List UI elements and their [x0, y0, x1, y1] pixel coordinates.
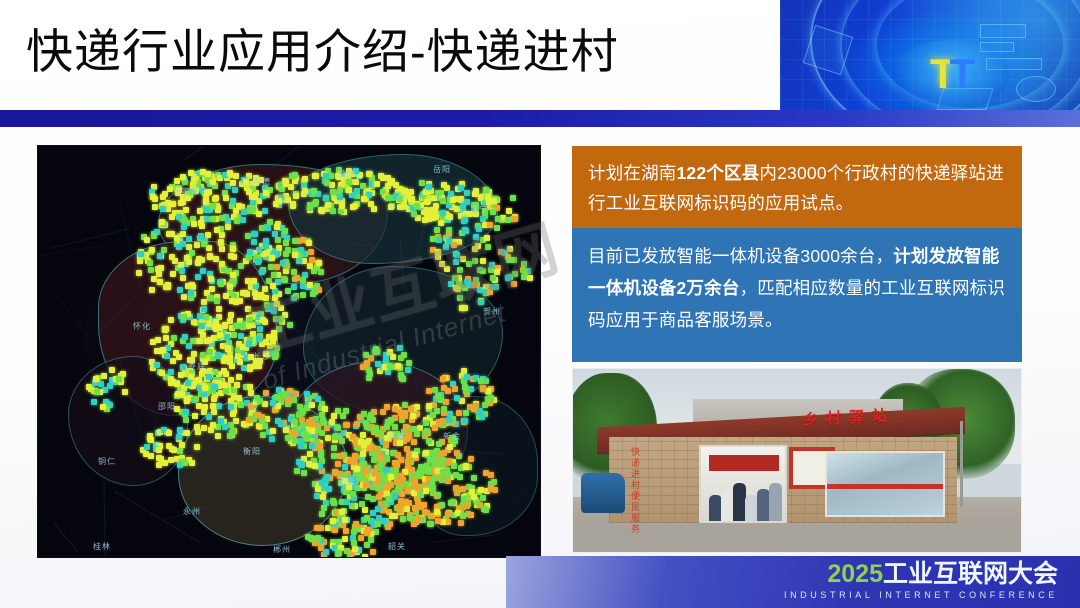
map-station-dot	[480, 258, 486, 264]
map-station-dot	[248, 390, 254, 396]
map-station-dot	[283, 427, 289, 433]
map-station-dot	[461, 496, 467, 502]
map-station-dot	[197, 338, 203, 344]
map-station-dot	[371, 457, 377, 463]
map-station-dot	[271, 330, 277, 336]
map-station-dot	[380, 175, 386, 181]
map-station-dot	[237, 359, 243, 365]
map-station-dot	[477, 408, 483, 414]
map-station-dot	[225, 345, 231, 351]
map-station-dot	[168, 369, 174, 375]
map-station-dot	[186, 244, 192, 250]
map-station-dot	[306, 240, 312, 246]
map-station-dot	[164, 353, 170, 359]
map-station-dot	[315, 486, 321, 492]
map-station-dot	[246, 189, 252, 195]
map-station-dot	[319, 511, 325, 517]
map-city-label: 郴州	[273, 544, 291, 555]
map-station-dot	[204, 216, 210, 222]
map-station-dot	[332, 434, 338, 440]
map-station-dot	[283, 268, 289, 274]
map-city-label: 韶关	[388, 541, 406, 552]
map-station-dot	[440, 418, 446, 424]
map-station-dot	[190, 383, 196, 389]
map-station-dot	[338, 208, 344, 214]
map-station-dot	[385, 195, 391, 201]
map-station-dot	[363, 482, 369, 488]
map-station-dot	[463, 410, 469, 416]
map-station-dot	[439, 502, 445, 508]
map-station-dot	[461, 218, 467, 224]
map-station-dot	[397, 196, 403, 202]
map-station-dot	[445, 511, 451, 517]
map-station-dot	[482, 402, 488, 408]
map-station-dot	[292, 252, 298, 258]
map-station-dot	[223, 195, 229, 201]
map-station-dot	[246, 341, 252, 347]
map-station-dot	[384, 404, 390, 410]
map-station-dot	[453, 259, 459, 265]
map-station-dot	[255, 259, 261, 265]
map-station-dot	[195, 429, 201, 435]
map-station-dot	[401, 352, 407, 358]
map-station-dot	[234, 382, 240, 388]
map-station-dot	[488, 472, 494, 478]
map-station-dot	[312, 289, 318, 295]
map-station-dot	[342, 517, 348, 523]
map-station-dot	[352, 546, 358, 552]
map-station-dot	[168, 376, 174, 382]
map-station-dot	[233, 418, 239, 424]
map-station-dot	[322, 406, 328, 412]
map-station-dot	[457, 295, 463, 301]
map-city-label: 岳阳	[433, 164, 451, 175]
map-station-dot	[441, 182, 447, 188]
map-station-dot	[270, 428, 276, 434]
map-station-dot	[262, 208, 268, 214]
map-station-dot	[403, 424, 409, 430]
map-station-dot	[351, 459, 357, 465]
map-station-dot	[201, 306, 207, 312]
map-station-dot	[315, 427, 321, 433]
photo-sign-char: 驿	[849, 405, 864, 427]
map-station-dot	[156, 271, 162, 277]
map-station-dot	[197, 208, 203, 214]
map-station-dot	[254, 395, 260, 401]
map-station-dot	[378, 430, 384, 436]
map-station-dot	[378, 455, 384, 461]
map-station-dot	[383, 442, 389, 448]
map-station-dot	[182, 460, 188, 466]
map-station-dot	[307, 202, 313, 208]
map-station-dot	[271, 272, 277, 278]
map-station-dot	[151, 233, 157, 239]
map-station-dot	[273, 352, 279, 358]
map-station-dot	[429, 480, 435, 486]
map-station-dot	[177, 448, 183, 454]
map-city-label: 怀化	[133, 321, 151, 332]
map-station-dot	[373, 529, 379, 535]
map-station-dot	[101, 373, 107, 379]
map-station-dot	[336, 550, 342, 556]
map-station-dot	[324, 474, 330, 480]
map-station-dot	[203, 199, 209, 205]
map-station-dot	[389, 513, 395, 519]
map-station-dot	[287, 388, 293, 394]
map-station-dot	[342, 536, 348, 542]
map-station-dot	[463, 464, 469, 470]
map-station-dot	[227, 433, 233, 439]
map-station-dot	[472, 191, 478, 197]
map-station-dot	[158, 265, 164, 271]
map-station-dot	[199, 323, 205, 329]
map-station-dot	[228, 253, 234, 259]
map-station-dot	[451, 242, 457, 248]
conference-name-cn: 工业互联网大会	[883, 560, 1058, 588]
map-station-dot	[221, 382, 227, 388]
map-station-dot	[300, 283, 306, 289]
map-station-dot	[364, 515, 370, 521]
map-station-dot	[415, 485, 421, 491]
map-station-dot	[181, 314, 187, 320]
title-divider-rule	[0, 110, 1080, 127]
map-station-dot	[468, 456, 474, 462]
map-station-dot	[487, 222, 493, 228]
map-station-dot	[323, 173, 329, 179]
photo-person	[769, 483, 782, 521]
map-station-dot	[257, 326, 263, 332]
map-station-dot	[454, 395, 460, 401]
map-station-dot	[241, 365, 247, 371]
map-station-dot	[424, 428, 430, 434]
map-station-dot	[189, 460, 195, 466]
map-station-dot	[156, 455, 162, 461]
map-station-dot	[231, 394, 237, 400]
map-station-dot	[374, 181, 380, 187]
map-station-dot	[319, 480, 325, 486]
map-station-dot	[511, 281, 517, 287]
map-station-dot	[375, 506, 381, 512]
map-station-dot	[372, 451, 378, 457]
map-station-dot	[296, 258, 302, 264]
map-station-dot	[339, 203, 345, 209]
map-station-dot	[402, 188, 408, 194]
map-station-dot	[223, 371, 229, 377]
map-station-dot	[178, 200, 184, 206]
map-station-dot	[282, 277, 288, 283]
map-city-label: 咸宁	[470, 204, 488, 215]
map-station-dot	[247, 249, 253, 255]
map-station-dot	[211, 335, 217, 341]
map-station-dot	[159, 219, 165, 225]
map-station-dot	[441, 385, 447, 391]
map-station-dot	[170, 201, 176, 207]
map-station-dot	[200, 352, 206, 358]
rural-courier-station-photo: 快递进村便民服务 乡村驿站	[572, 368, 1022, 553]
photo-wall-vertical-text: 快递进村便民服务	[631, 447, 647, 535]
conference-logo: 2025工业互联网大会 INDUSTRIAL INTERNET CONFEREN…	[784, 560, 1058, 600]
map-station-dot	[351, 540, 357, 546]
map-station-dot	[364, 360, 370, 366]
map-station-dot	[392, 424, 398, 430]
map-station-dot	[144, 444, 150, 450]
map-station-dot	[180, 241, 186, 247]
map-station-dot	[481, 506, 487, 512]
map-station-dot	[259, 269, 265, 275]
map-station-dot	[234, 218, 240, 224]
map-station-dot	[436, 237, 442, 243]
map-station-dot	[330, 208, 336, 214]
map-station-dot	[183, 417, 189, 423]
map-station-dot	[423, 420, 429, 426]
map-station-dot	[307, 263, 313, 269]
map-station-dot	[380, 507, 386, 513]
map-station-dot	[440, 376, 446, 382]
map-station-dot	[408, 406, 414, 412]
map-station-dot	[195, 274, 201, 280]
map-station-dot	[240, 217, 246, 223]
map-station-dot	[489, 262, 495, 268]
map-station-dot	[309, 428, 315, 434]
map-station-dot	[370, 496, 376, 502]
map-station-dot	[276, 198, 282, 204]
map-station-dot	[186, 236, 192, 242]
callout-orange-text-pre: 计划在湖南	[588, 163, 677, 183]
map-station-dot	[205, 171, 211, 177]
map-station-dot	[263, 339, 269, 345]
map-station-dot	[412, 452, 418, 458]
map-station-dot	[217, 332, 223, 338]
map-station-dot	[184, 430, 190, 436]
map-station-dot	[331, 413, 337, 419]
map-station-dot	[430, 485, 436, 491]
map-station-dot	[412, 505, 418, 511]
map-station-dot	[258, 292, 264, 298]
map-station-dot	[300, 292, 306, 298]
map-station-dot	[495, 216, 501, 222]
map-station-dot	[219, 215, 225, 221]
map-station-dot	[423, 450, 429, 456]
map-station-dot	[460, 486, 466, 492]
map-station-dot	[385, 183, 391, 189]
map-station-dot	[165, 345, 171, 351]
map-station-dot	[430, 236, 436, 242]
map-station-dot	[330, 498, 336, 504]
map-station-dot	[219, 261, 225, 267]
conference-year: 2025	[827, 560, 883, 588]
map-station-dot	[331, 445, 337, 451]
map-station-dot	[478, 299, 484, 305]
map-station-dot	[398, 498, 404, 504]
map-station-dot	[450, 499, 456, 505]
map-city-label: 铜仁	[98, 456, 116, 467]
photo-sign-char: 乡	[803, 408, 818, 430]
map-station-dot	[484, 235, 490, 241]
map-station-dot	[445, 478, 451, 484]
map-station-dot	[232, 187, 238, 193]
callout-orange-text-bold: 122个区县	[677, 163, 760, 183]
map-station-dot	[527, 275, 533, 281]
map-station-dot	[321, 505, 327, 511]
map-station-dot	[230, 411, 236, 417]
map-station-dot	[507, 246, 513, 252]
map-station-dot	[323, 549, 329, 555]
map-station-dot	[308, 535, 314, 541]
map-station-dot	[168, 457, 174, 463]
map-station-dot	[332, 527, 338, 533]
map-station-dot	[335, 461, 341, 467]
map-station-dot	[171, 335, 177, 341]
map-station-dot	[227, 354, 233, 360]
map-station-dot	[302, 188, 308, 194]
map-station-dot	[370, 549, 376, 555]
map-station-dot	[287, 322, 293, 328]
map-station-dot	[230, 180, 236, 186]
map-station-dot	[376, 494, 382, 500]
map-station-dot	[456, 410, 462, 416]
map-station-dot	[363, 352, 369, 358]
map-station-dot	[256, 247, 262, 253]
map-station-dot	[330, 518, 336, 524]
map-station-dot	[262, 401, 268, 407]
map-station-dot	[212, 369, 218, 375]
map-station-dot	[487, 289, 493, 295]
map-station-dot	[211, 396, 217, 402]
map-station-dot	[278, 316, 284, 322]
map-station-dot	[159, 370, 165, 376]
map-station-dot	[443, 399, 449, 405]
map-station-dot	[453, 485, 459, 491]
map-station-dot	[506, 208, 512, 214]
map-station-dot	[471, 494, 477, 500]
callout-orange-text-post: 内23000个行政村的快递	[759, 163, 950, 183]
map-station-dot	[480, 268, 486, 274]
map-station-dot	[269, 436, 275, 442]
map-station-dot	[183, 409, 189, 415]
map-station-dot	[471, 475, 477, 481]
map-station-dot	[454, 450, 460, 456]
map-station-dot	[107, 383, 113, 389]
map-station-dot	[459, 398, 465, 404]
map-station-dot	[506, 257, 512, 263]
map-station-dot	[236, 374, 242, 380]
map-station-dot	[260, 317, 266, 323]
map-station-dot	[464, 503, 470, 509]
map-station-dot	[208, 276, 214, 282]
map-station-dot	[247, 317, 253, 323]
map-station-dot	[275, 237, 281, 243]
map-station-dot	[458, 520, 464, 526]
map-station-dot	[431, 195, 437, 201]
map-station-dot	[346, 179, 352, 185]
map-station-dot	[465, 281, 471, 287]
map-station-dot	[209, 286, 215, 292]
map-station-dot	[478, 194, 484, 200]
map-station-dot	[399, 491, 405, 497]
map-city-label: 宜春	[388, 431, 406, 442]
map-station-dot	[441, 406, 447, 412]
map-station-dot	[301, 470, 307, 476]
map-station-dot	[165, 282, 171, 288]
map-station-dot	[309, 402, 315, 408]
map-station-dot	[283, 240, 289, 246]
map-station-dot	[388, 474, 394, 480]
map-city-label: 衡阳	[243, 446, 261, 457]
map-station-dot	[411, 439, 417, 445]
map-station-dot	[147, 260, 153, 266]
map-station-dot	[440, 457, 446, 463]
map-station-dot	[162, 326, 168, 332]
map-city-label: 吉安	[338, 476, 356, 487]
map-station-dot	[424, 199, 430, 205]
map-station-dot	[180, 231, 186, 237]
map-station-dot	[294, 468, 300, 474]
map-station-dot	[319, 208, 325, 214]
map-station-dot	[229, 298, 235, 304]
map-station-dot	[472, 258, 478, 264]
map-station-dot	[510, 195, 516, 201]
map-station-dot	[314, 493, 320, 499]
map-station-dot	[208, 295, 214, 301]
map-station-dot	[435, 254, 441, 260]
map-station-dot	[300, 408, 306, 414]
map-station-dot	[402, 410, 408, 416]
map-station-dot	[198, 328, 204, 334]
map-station-dot	[521, 261, 527, 267]
map-station-dot	[222, 424, 228, 430]
map-station-dot	[171, 447, 177, 453]
map-station-dot	[426, 438, 432, 444]
map-station-dot	[493, 284, 499, 290]
map-city-label: 桂林	[93, 541, 111, 552]
map-station-dot	[242, 290, 248, 296]
map-station-dot	[434, 509, 440, 515]
map-station-dot	[410, 413, 416, 419]
map-station-dot	[359, 501, 365, 507]
map-station-dot	[460, 513, 466, 519]
map-station-dot	[426, 467, 432, 473]
map-station-dot	[377, 464, 383, 470]
map-station-dot	[361, 196, 367, 202]
map-station-dot	[439, 477, 445, 483]
map-station-dot	[274, 264, 280, 270]
map-station-dot	[263, 238, 269, 244]
map-station-dot	[388, 417, 394, 423]
map-station-dot	[178, 372, 184, 378]
map-station-dot	[168, 317, 174, 323]
map-station-dot	[344, 422, 350, 428]
map-station-dot	[206, 414, 212, 420]
map-station-dot	[291, 284, 297, 290]
map-station-dot	[309, 421, 315, 427]
map-station-dot	[271, 308, 277, 314]
tech-network-banner-graphic: TT	[780, 0, 1080, 120]
map-station-dot	[176, 214, 182, 220]
photo-window-red-stripe	[827, 484, 943, 489]
map-station-dot	[292, 419, 298, 425]
map-station-dot	[184, 396, 190, 402]
map-station-dot	[382, 477, 388, 483]
map-station-dot	[263, 295, 269, 301]
map-station-dot	[270, 283, 276, 289]
map-station-dot	[325, 435, 331, 441]
callout-blue-text-pre: 目前已发放智能一体机设备3000余台，	[588, 246, 893, 266]
map-station-dot	[422, 509, 428, 515]
map-station-dot	[285, 288, 291, 294]
map-station-dot	[405, 459, 411, 465]
map-station-dot	[313, 173, 319, 179]
map-station-dot	[358, 439, 364, 445]
